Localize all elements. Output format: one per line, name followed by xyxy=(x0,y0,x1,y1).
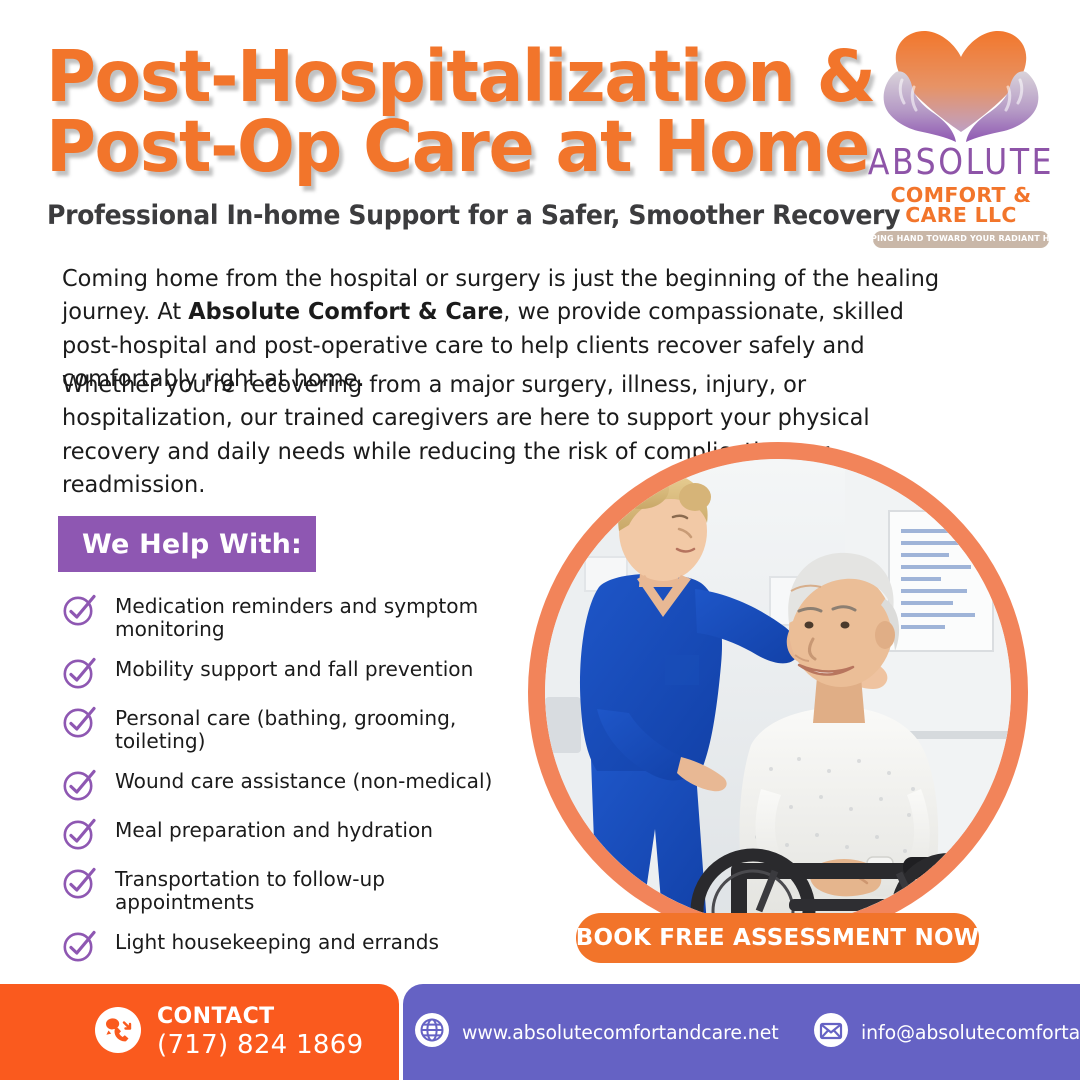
check-circle-icon xyxy=(62,656,96,690)
contact-text: CONTACT (717) 824 1869 xyxy=(157,1004,363,1061)
check-circle-icon xyxy=(62,866,96,900)
phone-icon xyxy=(95,1007,141,1058)
book-free-assessment-button[interactable]: BOOK FREE ASSESSMENT NOW xyxy=(576,913,979,963)
company-logo: ABSOLUTE COMFORT & CARE LLC A HELPING HA… xyxy=(866,24,1056,244)
globe-icon xyxy=(415,1013,449,1052)
envelope-icon xyxy=(814,1013,848,1052)
website-url: www.absolutecomfortandcare.net xyxy=(462,1021,779,1044)
service-item: Meal preparation and hydration xyxy=(62,816,512,851)
service-item-label: Wound care assistance (non-medical) xyxy=(115,767,492,793)
email-link[interactable]: info@absolutecomfortandcare.com xyxy=(814,1013,1080,1052)
service-item: Mobility support and fall prevention xyxy=(62,655,512,690)
headline-line-2: Post-Op Care at Home xyxy=(46,112,833,182)
services-heading-label: We Help With: xyxy=(82,529,302,560)
logo-tagline: A HELPING HAND TOWARD YOUR RADIANT HEALT… xyxy=(844,235,1078,243)
service-item: Personal care (bathing, grooming, toilet… xyxy=(62,704,512,753)
page-title: Post-Hospitalization & Post-Op Care at H… xyxy=(46,42,833,181)
contact-block[interactable]: CONTACT (717) 824 1869 xyxy=(95,1004,363,1061)
heart-in-hands-icon xyxy=(866,24,1056,148)
service-item: Medication reminders and symptom monitor… xyxy=(62,592,512,641)
service-item: Light housekeeping and errands xyxy=(62,928,512,963)
contact-phone[interactable]: (717) 824 1869 xyxy=(157,1030,363,1061)
service-item-label: Medication reminders and symptom monitor… xyxy=(115,592,504,641)
headline-line-1: Post-Hospitalization & xyxy=(46,42,833,112)
service-item-label: Transportation to follow-up appointments xyxy=(115,865,504,914)
cta-label: BOOK FREE ASSESSMENT NOW xyxy=(576,925,980,951)
check-circle-icon xyxy=(62,929,96,963)
check-circle-icon xyxy=(62,705,96,739)
service-item-label: Mobility support and fall prevention xyxy=(115,655,473,681)
caregiver-photo xyxy=(528,442,1028,942)
service-item: Transportation to follow-up appointments xyxy=(62,865,512,914)
check-circle-icon xyxy=(62,817,96,851)
contact-label: CONTACT xyxy=(157,1004,363,1030)
caregiver-photo-image xyxy=(545,459,1011,925)
services-heading-badge: We Help With: xyxy=(58,516,316,572)
logo-tagline-pill: A HELPING HAND TOWARD YOUR RADIANT HEALT… xyxy=(873,231,1049,248)
subheadline: Professional In-home Support for a Safer… xyxy=(47,200,900,231)
email-address: info@absolutecomfortandcare.com xyxy=(861,1021,1080,1044)
check-circle-icon xyxy=(62,593,96,627)
website-link[interactable]: www.absolutecomfortandcare.net xyxy=(415,1013,788,1052)
service-item: Wound care assistance (non-medical) xyxy=(62,767,512,802)
service-item-label: Meal preparation and hydration xyxy=(115,816,433,842)
footer-contact-panel: CONTACT (717) 824 1869 xyxy=(0,984,399,1080)
logo-wordmark: ABSOLUTE COMFORT & CARE LLC A HELPING HA… xyxy=(866,148,1056,248)
service-item-label: Personal care (bathing, grooming, toilet… xyxy=(115,704,504,753)
company-name-bold: Absolute Comfort & Care xyxy=(188,297,503,325)
check-circle-icon xyxy=(62,768,96,802)
footer-links-panel: www.absolutecomfortandcare.net info@abso… xyxy=(403,984,1080,1080)
logo-name-bottom: COMFORT & CARE LLC xyxy=(866,185,1056,226)
services-checklist: Medication reminders and symptom monitor… xyxy=(62,592,512,977)
logo-name-top: ABSOLUTE xyxy=(866,146,1056,181)
service-item-label: Light housekeeping and errands xyxy=(115,928,439,954)
flyer-canvas: Post-Hospitalization & Post-Op Care at H… xyxy=(0,0,1080,1080)
